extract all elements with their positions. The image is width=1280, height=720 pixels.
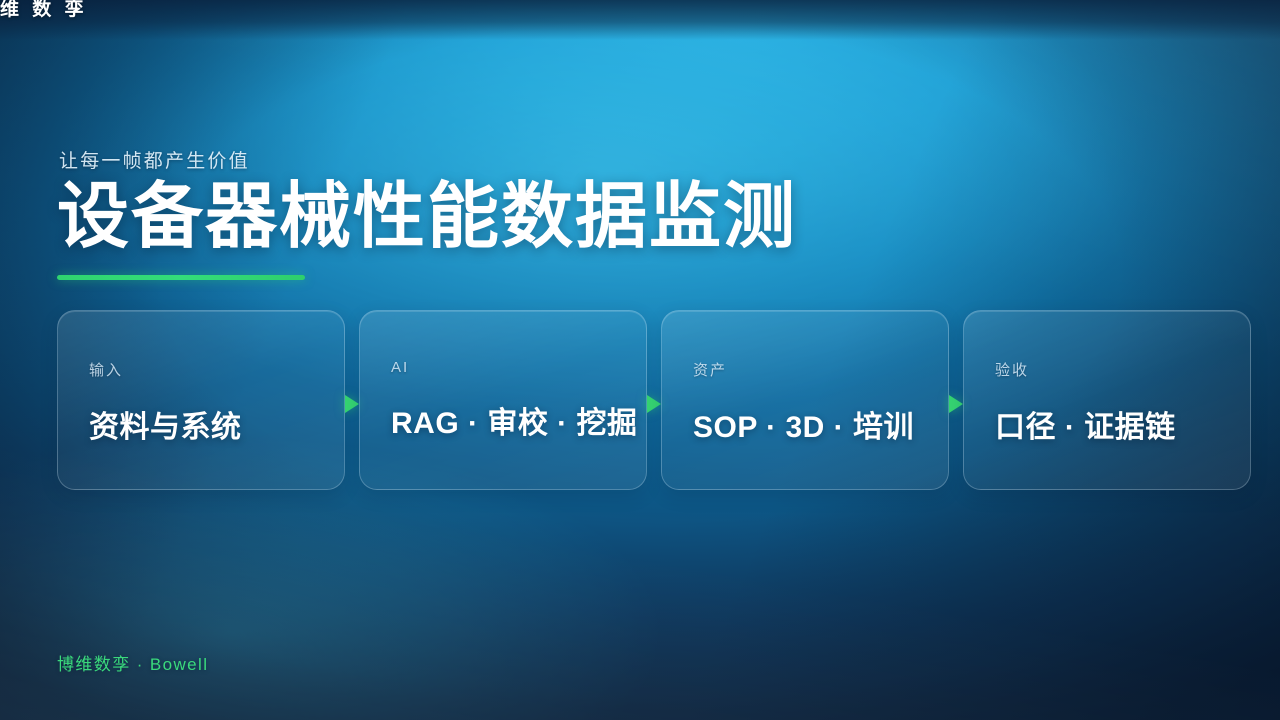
card-label: AI	[391, 359, 646, 376]
pipeline-connector-1	[345, 310, 359, 490]
brand-logo-text: 维 数 孪	[0, 0, 88, 25]
card-title: 口径 · 证据链	[995, 402, 1250, 446]
pipeline-card-ai[interactable]: AI RAG · 审校 · 挖掘	[359, 310, 647, 490]
pipeline-connector-2	[647, 310, 661, 490]
card-title: SOP · 3D · 培训	[693, 402, 948, 446]
title-accent-rule	[57, 275, 305, 280]
card-label: 资产	[693, 359, 948, 380]
card-label: 验收	[995, 359, 1250, 380]
pipeline-card-acceptance[interactable]: 验收 口径 · 证据链	[963, 310, 1251, 490]
card-label: 输入	[89, 359, 344, 380]
card-title: 资料与系统	[89, 402, 344, 446]
card-title: RAG · 审校 · 挖掘	[391, 398, 646, 442]
page-title: 设备器械性能数据监测	[57, 179, 797, 257]
pipeline-card-input[interactable]: 输入 资料与系统	[57, 310, 345, 490]
background-top-band	[0, 0, 1280, 40]
arrow-right-icon	[949, 395, 963, 413]
pipeline-card-asset[interactable]: 资产 SOP · 3D · 培训	[661, 310, 949, 490]
footer-brand-text: 博维数孪 · Bowell	[57, 650, 208, 675]
pipeline-steps: 输入 资料与系统 AI RAG · 审校 · 挖掘 资产 SOP · 3D · …	[57, 310, 1230, 490]
pipeline-connector-3	[949, 310, 963, 490]
eyebrow-text: 让每一帧都产生价值	[59, 146, 797, 173]
arrow-right-icon	[647, 395, 661, 413]
arrow-right-icon	[345, 395, 359, 413]
slide-canvas: 维 数 孪 让每一帧都产生价值 设备器械性能数据监测 输入 资料与系统 AI R…	[0, 0, 1280, 720]
headline-block: 让每一帧都产生价值 设备器械性能数据监测	[57, 146, 797, 280]
